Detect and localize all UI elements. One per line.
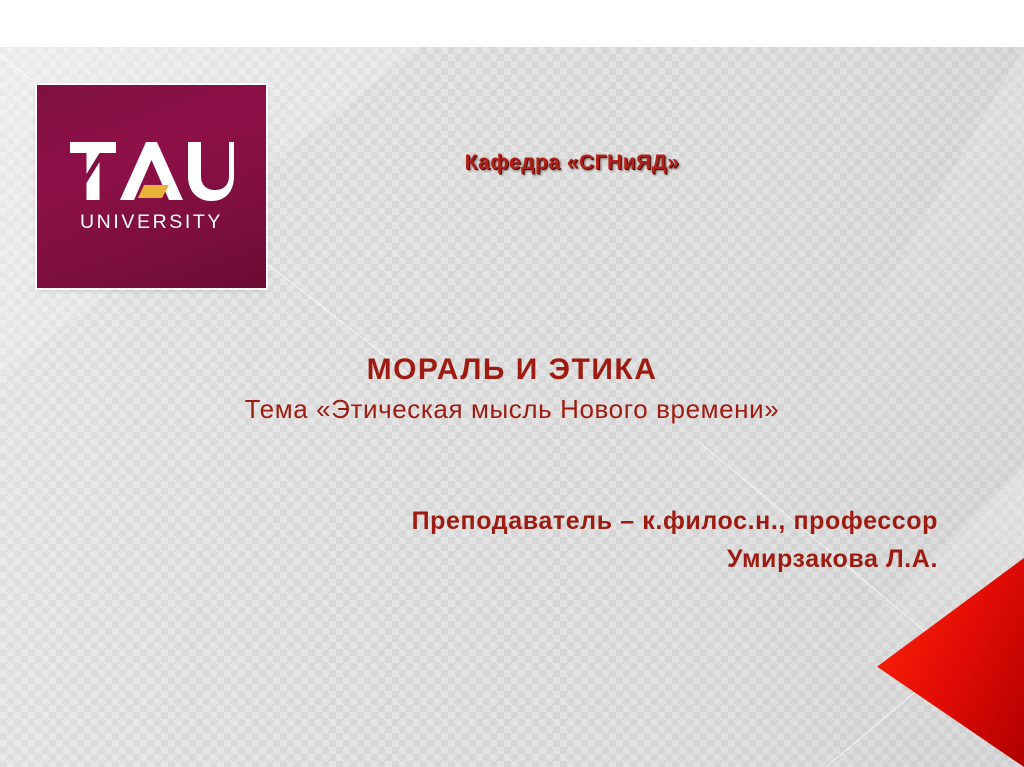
department-heading: Кафедра «СГНиЯД» — [0, 151, 1024, 175]
tau-logo-wordmark: UNIVERSITY — [80, 211, 223, 234]
title-block: МОРАЛЬ И ЭТИКА Тема «Этическая мысль Нов… — [0, 353, 1024, 424]
top-white-band — [0, 0, 1024, 47]
instructor-block: Преподаватель – к.филос.н., профессор Ум… — [0, 502, 1024, 578]
slide-subtitle: Тема «Этическая мысль Нового времени» — [0, 394, 1024, 425]
instructor-name: Умирзакова Л.А. — [0, 540, 938, 578]
slide-canvas: UNIVERSITY Кафедра «СГНиЯД» МОРАЛЬ И ЭТИ… — [0, 0, 1024, 767]
slide-title: МОРАЛЬ И ЭТИКА — [0, 353, 1024, 387]
tau-university-logo: UNIVERSITY — [37, 85, 266, 288]
instructor-role: Преподаватель – к.филос.н., профессор — [0, 502, 938, 540]
